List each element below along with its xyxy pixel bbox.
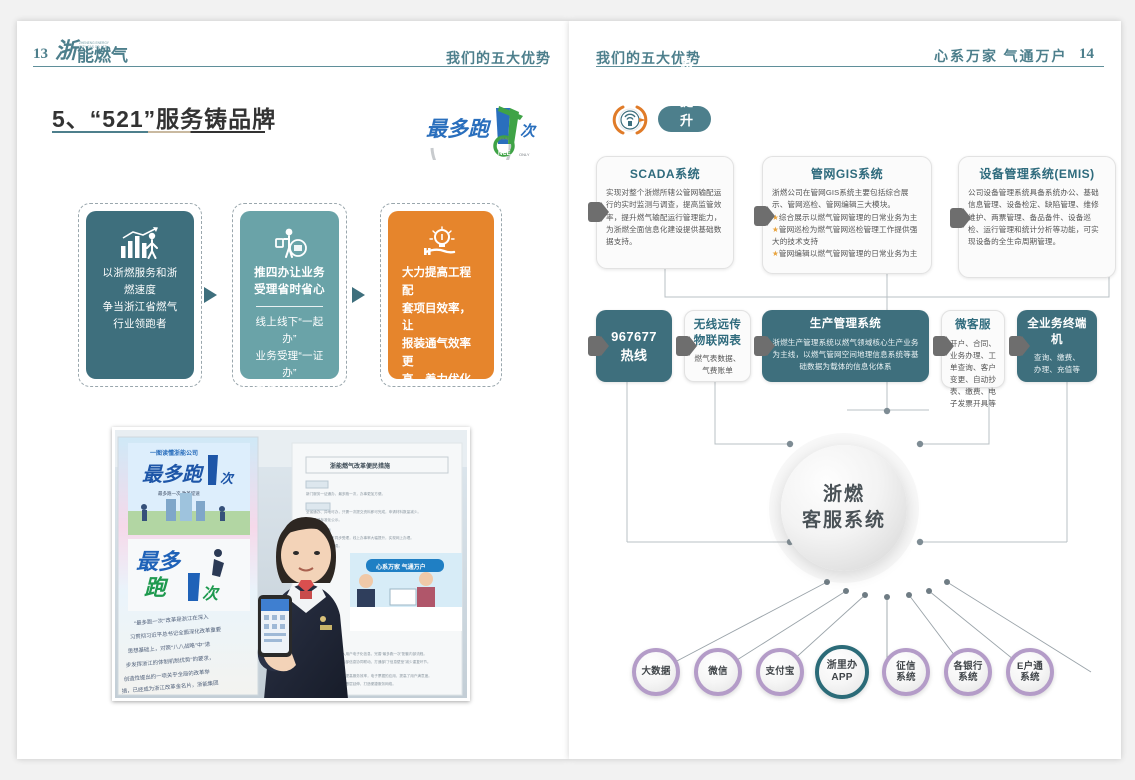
card-separator bbox=[256, 306, 323, 307]
center-node-customer-service[interactable]: 浙燃 客服系统 bbox=[781, 445, 907, 571]
advantage-card-3: 大力提高工程配 套项目效率，让 报装通气效率更 高，着力优化营 商环境 bbox=[380, 203, 502, 387]
run-once-logo-icon: 最多跑 次 NCE ONLY RUN bbox=[424, 104, 548, 160]
svg-text:最多跑: 最多跑 bbox=[142, 463, 205, 486]
bubble-big-data-label: 大数据 bbox=[641, 666, 670, 677]
right-header-slogan: 心系万家 气通万户 bbox=[934, 46, 1068, 66]
svg-text:次: 次 bbox=[520, 123, 537, 140]
section-title: 5、“521”服务铸品牌 bbox=[52, 100, 276, 134]
bubble-credit-system-label1: 征信 bbox=[896, 661, 915, 672]
tab-marker-scada-icon bbox=[588, 202, 602, 222]
star-icon: ★ bbox=[772, 249, 779, 258]
mid-card-terminal-body: 查询、缴费、 办理、充值等 bbox=[1024, 352, 1090, 376]
bubble-ehutong-label2: 系统 bbox=[1020, 672, 1039, 683]
bubble-ehutong[interactable]: E户通 系统 bbox=[1006, 648, 1054, 696]
bar-chart-person-icon bbox=[96, 223, 184, 263]
svg-text:最多跑: 最多跑 bbox=[426, 117, 492, 141]
right-page-number: 14 bbox=[1079, 46, 1094, 63]
bubble-alipay[interactable]: 支付宝 bbox=[756, 648, 804, 696]
mid-card-wechat-service-title: 微客服 bbox=[949, 318, 997, 334]
advantage-card-2-inner: 推四办让业务 受理省时省心 线上线下“一起办” 业务受理“一证办” 申请通气“马… bbox=[240, 211, 339, 379]
svg-text:最多: 最多 bbox=[136, 549, 182, 574]
svg-text:次: 次 bbox=[202, 585, 220, 603]
bubble-zhelib-app-label1: 浙里办 bbox=[827, 660, 858, 672]
svg-text:一图读懂浙能公司: 一图读懂浙能公司 bbox=[150, 449, 198, 457]
top-card-gis-title: 管网GIS系统 bbox=[772, 165, 922, 182]
bubble-credit-system-label2: 系统 bbox=[896, 672, 915, 683]
svg-text:CITY GAS CO. LTD: CITY GAS CO. LTD bbox=[79, 45, 108, 49]
mid-card-wechat-service-body: 开户、合同、业务办理、工单查询、客户变更、自动抄表、缴费、电子发票开具等 bbox=[949, 338, 997, 411]
mid-card-production-title: 生产管理系统 bbox=[769, 317, 922, 333]
tab-marker-wechat-icon bbox=[933, 336, 947, 356]
center-node-line2: 客服系统 bbox=[802, 508, 886, 534]
star-icon: ★ bbox=[772, 225, 779, 234]
advantage-card-3-text: 大力提高工程配 套项目效率，让 报装通气效率更 高，着力优化营 商环境 bbox=[398, 265, 484, 425]
svg-text:心系万家 气通万户: 心系万家 气通万户 bbox=[376, 563, 426, 571]
top-card-gis[interactable]: 管网GIS系统 浙燃公司在管网GIS系统主要包括综合展示、管网巡检、管网编辑三大… bbox=[762, 156, 932, 274]
advantage-card-1-text: 以浙燃服务和浙 燃速度 争当浙江省燃气 行业领跑者 bbox=[96, 265, 184, 333]
arrow-1-2-icon bbox=[204, 287, 217, 303]
bubble-big-data[interactable]: 大数据 bbox=[632, 648, 680, 696]
left-page-number: 13 bbox=[33, 46, 48, 63]
bubble-banks-label2: 系统 bbox=[958, 672, 977, 683]
arrow-2-3-icon bbox=[352, 287, 365, 303]
tab-marker-production-icon bbox=[754, 336, 768, 356]
section-banner-label: 信息化提升服务能力 bbox=[658, 106, 711, 132]
svg-text:跑: 跑 bbox=[144, 575, 169, 600]
svg-text:NCE: NCE bbox=[498, 151, 511, 157]
top-card-scada[interactable]: SCADA系统 实现对整个浙燃所辖公管网输配运行的实时监测与调查，提高监管效率，… bbox=[596, 156, 734, 269]
lightbulb-hand-icon bbox=[398, 223, 484, 263]
svg-text:RUN: RUN bbox=[500, 136, 509, 141]
center-node-line1: 浙燃 bbox=[823, 482, 865, 508]
svg-text:ONLY: ONLY bbox=[519, 152, 530, 157]
svg-text:最多跑一次 改革提速: 最多跑一次 改革提速 bbox=[158, 490, 200, 497]
mid-card-production[interactable]: 生产管理系统 浙燃生产管理系统以燃气领域核心生产业务为主线，以燃气管网空间地理信… bbox=[762, 310, 929, 382]
top-card-scada-title: SCADA系统 bbox=[606, 165, 724, 182]
bubble-banks-label1: 各银行 bbox=[953, 661, 982, 672]
advantage-card-2-title: 推四办让业务 受理省时省心 bbox=[250, 265, 329, 300]
bubble-wechat-label: 微信 bbox=[708, 666, 727, 677]
advantage-card-3-inner: 大力提高工程配 套项目效率，让 报装通气效率更 高，着力优化营 商环境 bbox=[388, 211, 494, 379]
company-logo-icon: 浙 能燃气 ZHENENG ENERGY CITY GAS CO. LTD bbox=[55, 36, 145, 66]
mid-card-hotline-title: 967677 热线 bbox=[611, 327, 657, 366]
bubble-zhelib-app[interactable]: 浙里办 APP bbox=[815, 645, 869, 699]
left-header-title: 我们的五大优势 bbox=[446, 48, 551, 68]
top-card-emis-body: 公司设备管理系统具备系统办公、基础信息管理、设备检定、缺陷管理、维修维护、两票管… bbox=[968, 187, 1106, 248]
bubble-ehutong-label1: E户通 bbox=[1017, 661, 1043, 672]
advantage-card-1: 以浙燃服务和浙 燃速度 争当浙江省燃气 行业领跑者 bbox=[78, 203, 202, 387]
mid-card-terminal-title: 全业务终端机 bbox=[1024, 317, 1090, 348]
radar-touch-icon bbox=[609, 104, 653, 136]
mid-card-iot-meter-body: 燃气表数据、 气费账单 bbox=[692, 353, 743, 377]
top-card-gis-body: 浙燃公司在管网GIS系统主要包括综合展示、管网巡检、管网编辑三大模块。 ★综合展… bbox=[772, 187, 922, 261]
tab-marker-gis-icon bbox=[754, 206, 768, 226]
bubble-credit-system[interactable]: 征信 系统 bbox=[882, 648, 930, 696]
bubble-zhelib-app-label2: APP bbox=[831, 672, 852, 684]
tab-marker-iot-icon bbox=[676, 336, 690, 356]
svg-text:新门服务一证通办，最多跑一次，办事更加方便。: 新门服务一证通办，最多跑一次，办事更加方便。 bbox=[306, 491, 385, 496]
tab-marker-hotline-icon bbox=[588, 336, 602, 356]
bubble-wechat[interactable]: 微信 bbox=[694, 648, 742, 696]
svg-text:浙能燃气改革便民措施: 浙能燃气改革便民措施 bbox=[330, 462, 390, 470]
left-header-rule bbox=[33, 66, 541, 67]
top-card-emis[interactable]: 设备管理系统(EMIS) 公司设备管理系统具备系统办公、基础信息管理、设备检定、… bbox=[958, 156, 1116, 278]
svg-text:次: 次 bbox=[220, 471, 235, 486]
bubble-alipay-label: 支付宝 bbox=[765, 666, 794, 677]
promotional-photo: 一图读懂浙能公司 最多跑 次 最多跑一次 改革提速 最多 跑 次 “最多跑一次”… bbox=[112, 427, 470, 701]
bubble-banks[interactable]: 各银行 系统 bbox=[944, 648, 992, 696]
advantage-card-2: 推四办让业务 受理省时省心 线上线下“一起办” 业务受理“一证办” 申请通气“马… bbox=[232, 203, 347, 387]
mid-card-production-body: 浙燃生产管理系统以燃气领域核心生产业务为主线，以燃气管网空间地理信息系统等基础数… bbox=[769, 337, 922, 373]
service-counter-icon bbox=[250, 223, 329, 263]
advantage-card-1-inner: 以浙燃服务和浙 燃速度 争当浙江省燃气 行业领跑者 bbox=[86, 211, 194, 379]
slide-page: 13 浙 能燃气 ZHENENG ENERGY CITY GAS CO. LTD… bbox=[0, 0, 1135, 780]
tab-marker-emis-icon bbox=[950, 208, 964, 228]
section-underline bbox=[52, 131, 265, 133]
mid-card-iot-meter-title: 无线远传 物联网表 bbox=[692, 318, 743, 349]
right-header-rule bbox=[596, 66, 1104, 67]
tab-marker-terminal-icon bbox=[1009, 336, 1023, 356]
top-card-scada-body: 实现对整个浙燃所辖公管网输配运行的实时监测与调查，提高监管效率，提升燃气输配运行… bbox=[606, 187, 724, 248]
top-card-emis-title: 设备管理系统(EMIS) bbox=[968, 165, 1106, 182]
